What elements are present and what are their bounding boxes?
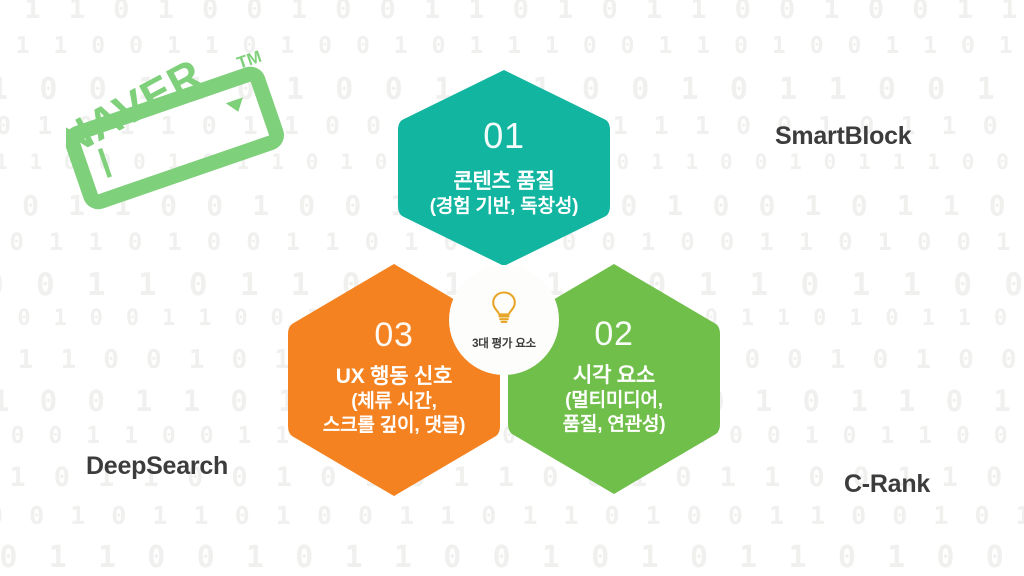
naver-logo: TM NAVER (66, 48, 298, 224)
hexagon-01-title: 콘텐츠 품질 (453, 170, 554, 195)
hexagon-01-content-quality[interactable]: 01 콘텐츠 품질 (경험 기반, 독창성) (398, 68, 610, 268)
hexagon-03-subtitle: (체류 시간, 스크롤 깊이, 댓글) (323, 390, 465, 438)
hexagon-03-subtitle-line-2: 스크롤 깊이, 댓글) (323, 414, 465, 438)
hexagon-02-subtitle-line-2: 품질, 연관성) (563, 413, 666, 437)
binary-row: 0 1 1 0 1 0 0 1 0 0 1 1 0 1 0 1 1 0 0 1 … (0, 0, 1024, 25)
hexagon-03-number: 03 (374, 318, 413, 352)
lightbulb-icon (489, 290, 519, 329)
caption-c-rank: C-Rank (844, 470, 930, 499)
hexagon-02-number: 02 (594, 317, 633, 351)
center-badge-label: 3대 평가 요소 (472, 335, 536, 351)
caption-deepsearch: DeepSearch (86, 452, 228, 481)
hexagon-02-subtitle: (멀티미디어, 품질, 연관성) (563, 389, 666, 437)
binary-row: 0 0 1 0 1 1 0 1 0 0 1 1 0 1 1 0 1 0 0 1 … (0, 501, 1024, 530)
hexagon-01-number: 01 (483, 118, 524, 154)
hexagon-02-subtitle-line-1: (멀티미디어, (563, 389, 666, 413)
hexagon-02-title: 시각 요소 (573, 364, 655, 389)
hexagon-03-subtitle-line-1: (체류 시간, (323, 390, 465, 414)
center-badge: 3대 평가 요소 (452, 268, 556, 372)
hexagon-01-subtitle: (경험 기반, 독창성) (430, 195, 579, 219)
trademark-mark: TM (235, 48, 264, 73)
naver-wordmark: NAVER (66, 50, 211, 166)
hexagon-01-subtitle-line-1: (경험 기반, 독창성) (430, 195, 579, 219)
chevron-down-icon (226, 97, 247, 114)
binary-row: 1 0 1 1 0 0 1 0 1 1 0 0 1 0 1 0 1 1 0 1 … (0, 540, 1024, 575)
hexagon-03-title: UX 행동 신호 (336, 365, 452, 390)
text-cursor-icon (98, 148, 112, 178)
caption-smartblock: SmartBlock (775, 122, 911, 151)
